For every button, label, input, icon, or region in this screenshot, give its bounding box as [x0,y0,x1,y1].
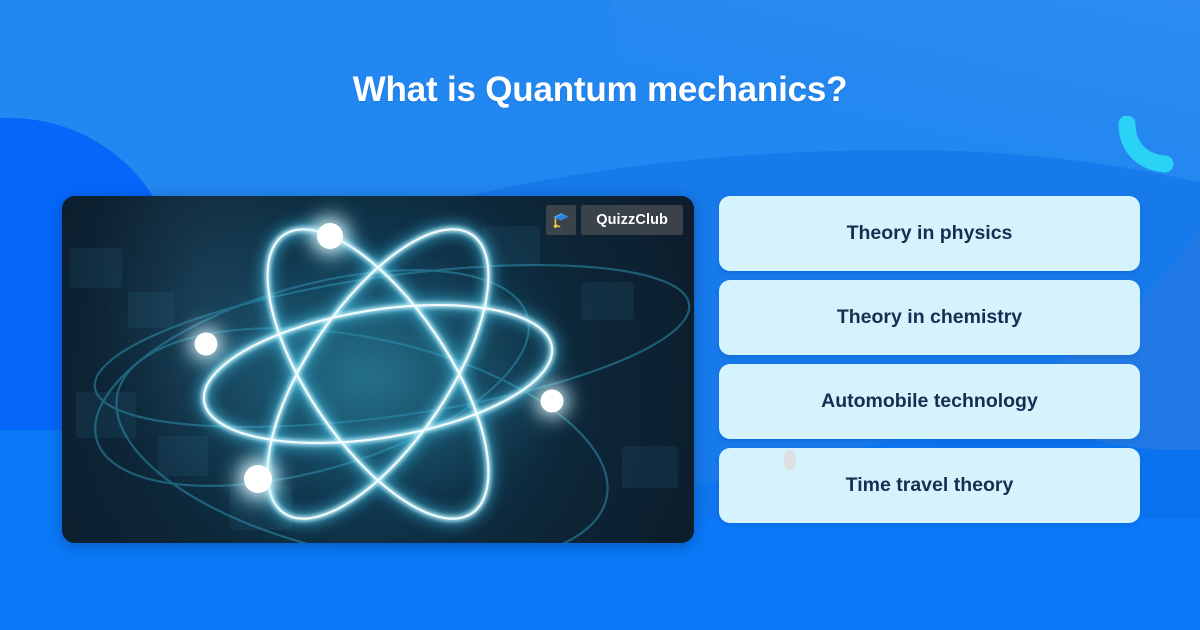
scrollbar-thumb[interactable] [784,450,796,470]
electron-nodes [184,210,574,507]
watermark: QuizzClub [546,205,683,235]
answer-option-2-label: Theory in chemistry [837,306,1022,329]
question-image-panel: QuizzClub [62,196,694,543]
cyan-arc-icon [1113,116,1183,178]
answer-option-3-label: Automobile technology [821,390,1038,413]
answer-option-4[interactable]: Time travel theory [719,448,1140,523]
answer-option-2[interactable]: Theory in chemistry [719,280,1140,355]
answer-option-1-label: Theory in physics [847,222,1013,245]
answer-option-3[interactable]: Automobile technology [719,364,1140,439]
graduation-cap-icon [546,205,576,235]
answer-option-4-label: Time travel theory [846,474,1014,497]
page-title: What is Quantum mechanics? [0,70,1200,110]
atom-orbit-graphic [62,196,694,543]
answer-option-1[interactable]: Theory in physics [719,196,1140,271]
answer-options-list: Theory in physics Theory in chemistry Au… [719,196,1140,523]
watermark-brand-label: QuizzClub [581,205,683,235]
